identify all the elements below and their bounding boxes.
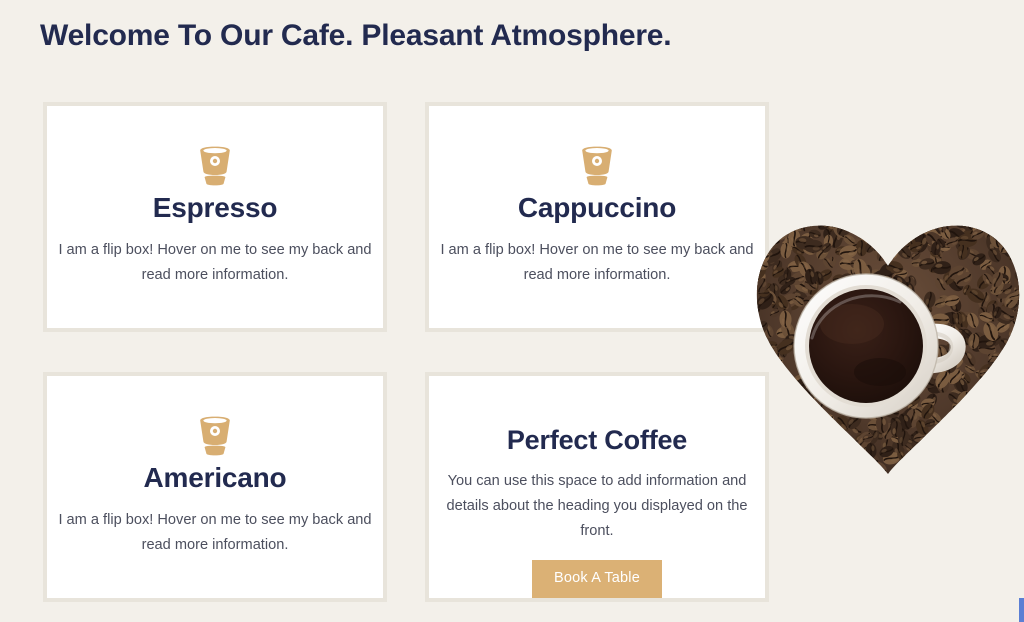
vertical-scrollbar[interactable] xyxy=(1019,598,1024,622)
page-title: Welcome To Our Cafe. Pleasant Atmosphere… xyxy=(40,17,671,55)
card-heading: Americano xyxy=(144,460,287,496)
flip-card-cappuccino[interactable]: Cappuccino I am a flip box! Hover on me … xyxy=(425,102,769,332)
cta-wrapper: Book A Table xyxy=(429,560,765,598)
card-description: I am a flip box! Hover on me to see my b… xyxy=(57,238,373,288)
flip-card-espresso[interactable]: Espresso I am a flip box! Hover on me to… xyxy=(43,102,387,332)
card-front: Cappuccino I am a flip box! Hover on me … xyxy=(429,106,765,288)
card-description: I am a flip box! Hover on me to see my b… xyxy=(57,508,373,558)
flip-card-perfect-coffee[interactable]: Perfect Coffee You can use this space to… xyxy=(425,372,769,602)
card-heading: Espresso xyxy=(153,190,277,226)
flip-card-americano[interactable]: Americano I am a flip box! Hover on me t… xyxy=(43,372,387,602)
card-description: I am a flip box! Hover on me to see my b… xyxy=(439,238,755,288)
card-back: Perfect Coffee You can use this space to… xyxy=(429,376,765,598)
card-description: You can use this space to add informatio… xyxy=(443,469,751,544)
book-a-table-button[interactable]: Book A Table xyxy=(532,560,662,598)
coffee-beans-heart-photo xyxy=(748,186,1024,476)
card-heading: Cappuccino xyxy=(518,190,676,226)
card-heading: Perfect Coffee xyxy=(507,422,687,458)
coffee-cup-icon xyxy=(578,146,616,186)
card-front: Espresso I am a flip box! Hover on me to… xyxy=(47,106,383,288)
flip-card-grid: Espresso I am a flip box! Hover on me to… xyxy=(43,102,769,602)
card-front: Americano I am a flip box! Hover on me t… xyxy=(47,376,383,558)
coffee-cup-icon xyxy=(196,416,234,456)
page-root: Welcome To Our Cafe. Pleasant Atmosphere… xyxy=(0,0,1024,622)
coffee-cup-icon xyxy=(196,146,234,186)
